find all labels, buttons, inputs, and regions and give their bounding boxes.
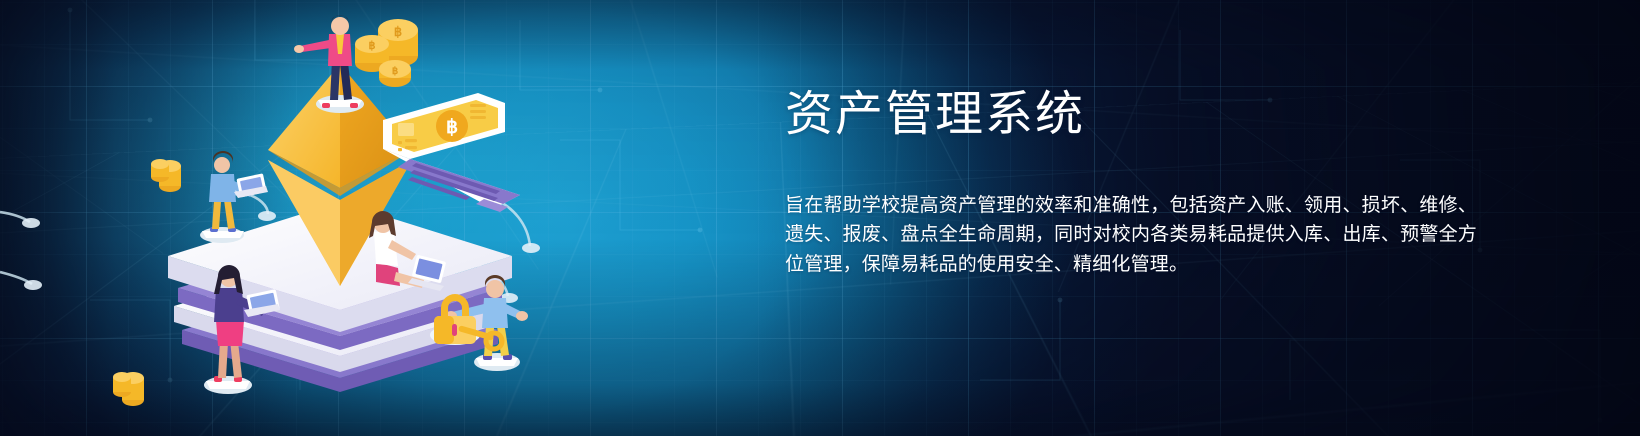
coin-stack-bottom [113,372,144,406]
hero-illustration: ฿ [0,0,620,436]
hero-text-block: 资产管理系统 旨在帮助学校提高资产管理的效率和准确性，包括资产入账、领用、损坏、… [785,88,1485,279]
svg-text:฿: ฿ [446,117,458,138]
svg-text:฿: ฿ [394,24,402,39]
coin-stack: ฿ ฿ ฿ [355,19,418,87]
person-hoverboard [294,15,364,113]
svg-text:฿: ฿ [369,40,376,52]
coin-stack-lower [151,159,181,192]
svg-text:฿: ฿ [392,66,398,77]
page-title: 资产管理系统 [785,88,1485,143]
laptop-bitcoin: ฿ [382,93,520,212]
hero-banner: ฿ [0,0,1640,436]
hero-description: 旨在帮助学校提高资产管理的效率和准确性，包括资产入账、领用、损坏、维修、遗失、报… [785,191,1477,280]
